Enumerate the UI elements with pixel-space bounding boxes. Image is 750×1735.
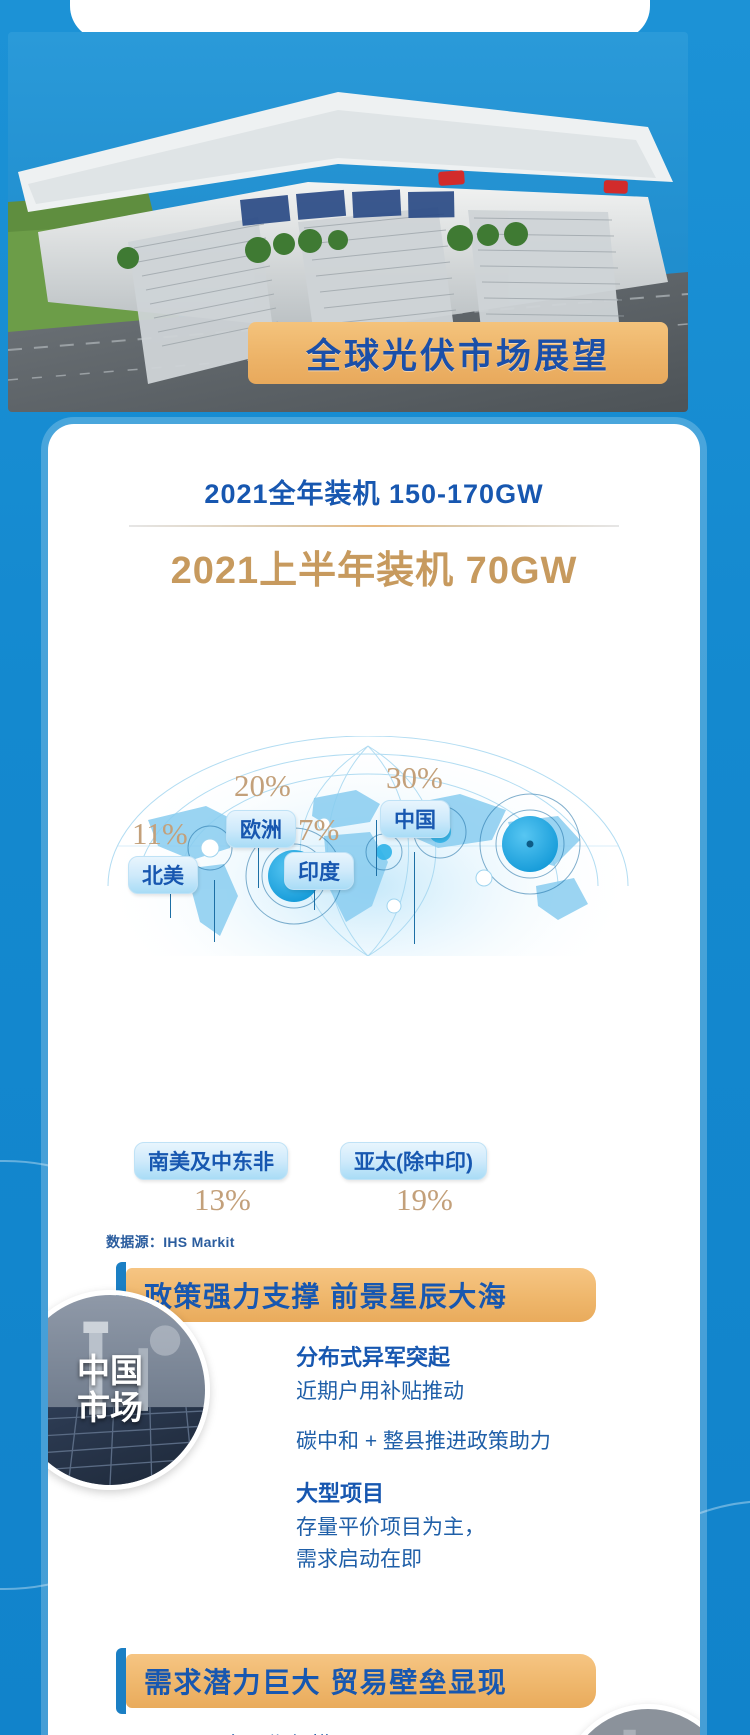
section-banner-china: 政策强力支撑 前景星辰大海 [126,1268,596,1322]
section-banner-india-label: 需求潜力巨大 贸易壁垒显现 [126,1661,507,1701]
china-block2-line2: 需求启动在即 [296,1544,676,1576]
china-block1-head: 分布式异军突起 [296,1340,676,1372]
region-tag-northamerica[interactable]: 北美 [128,856,198,894]
china-badge-line1: 中国 [77,1352,143,1389]
header-title-banner: 全球光伏市场展望 [248,322,668,384]
spacer [296,1408,676,1426]
leader-line-china [376,820,377,876]
section-banner-china-label: 政策强力支撑 前景星辰大海 [126,1275,507,1315]
leader-line-apac [414,852,415,944]
pct-europe: 20% [234,768,291,804]
heading-divider [129,525,619,527]
page-title: 全球光伏市场展望 [306,328,610,379]
china-market-badge-caption: 中国 市场 [48,1353,205,1427]
india-line1: 2021年预期规模10GW， [180,1730,620,1735]
china-badge-line2: 市场 [77,1389,143,1426]
world-map-chart: 20% 欧洲 30% 中国 11% 北美 7% 印度 南美及中东非 13% 亚太… [48,604,700,1024]
china-block1-line1: 近期户用补贴推动 [296,1376,676,1408]
pct-apac: 19% [396,1182,453,1218]
section-china: 政策强力支撑 前景星辰大海 [48,1268,700,1576]
infographic-page: 全球光伏市场展望 2021全年装机 150-170GW 2021上半年装机 70… [0,0,750,1735]
china-body-text: 分布式异军突起 近期户用补贴推动 碳中和 + 整县推进政策助力 大型项目 存量平… [296,1340,676,1576]
region-tag-apac[interactable]: 亚太(除中印) [340,1142,487,1180]
region-tag-southamerica[interactable]: 南美及中东非 [134,1142,288,1180]
overview-year-heading: 2021全年装机 150-170GW [48,472,700,511]
china-block2-line1: 存量平价项目为主， [296,1512,676,1544]
pct-southamerica: 13% [194,1182,251,1218]
main-content-card: 2021全年装机 150-170GW 2021上半年装机 70GW [48,424,700,1735]
overview-half-heading: 2021上半年装机 70GW [48,539,700,594]
spacer [296,1458,676,1476]
region-tag-europe[interactable]: 欧洲 [226,810,296,848]
region-tag-india[interactable]: 印度 [284,852,354,890]
data-source-note: 数据源：IHS Markit [106,1232,235,1252]
india-body-text: 2021年预期规模10GW， [180,1730,620,1735]
section-india: 需求潜力巨大 贸易壁垒显现 印度 2021年预期规模10GW， [48,1654,700,1735]
china-block1-line2: 碳中和 + 整县推进政策助力 [296,1426,676,1458]
section-banner-india: 需求潜力巨大 贸易壁垒显现 [126,1654,596,1708]
pct-india: 7% [298,812,339,848]
pct-china: 30% [386,760,443,796]
leader-line-southamerica [214,880,215,942]
pct-northamerica: 11% [132,816,188,852]
region-tag-china[interactable]: 中国 [380,800,450,838]
china-block2-head: 大型项目 [296,1476,676,1508]
